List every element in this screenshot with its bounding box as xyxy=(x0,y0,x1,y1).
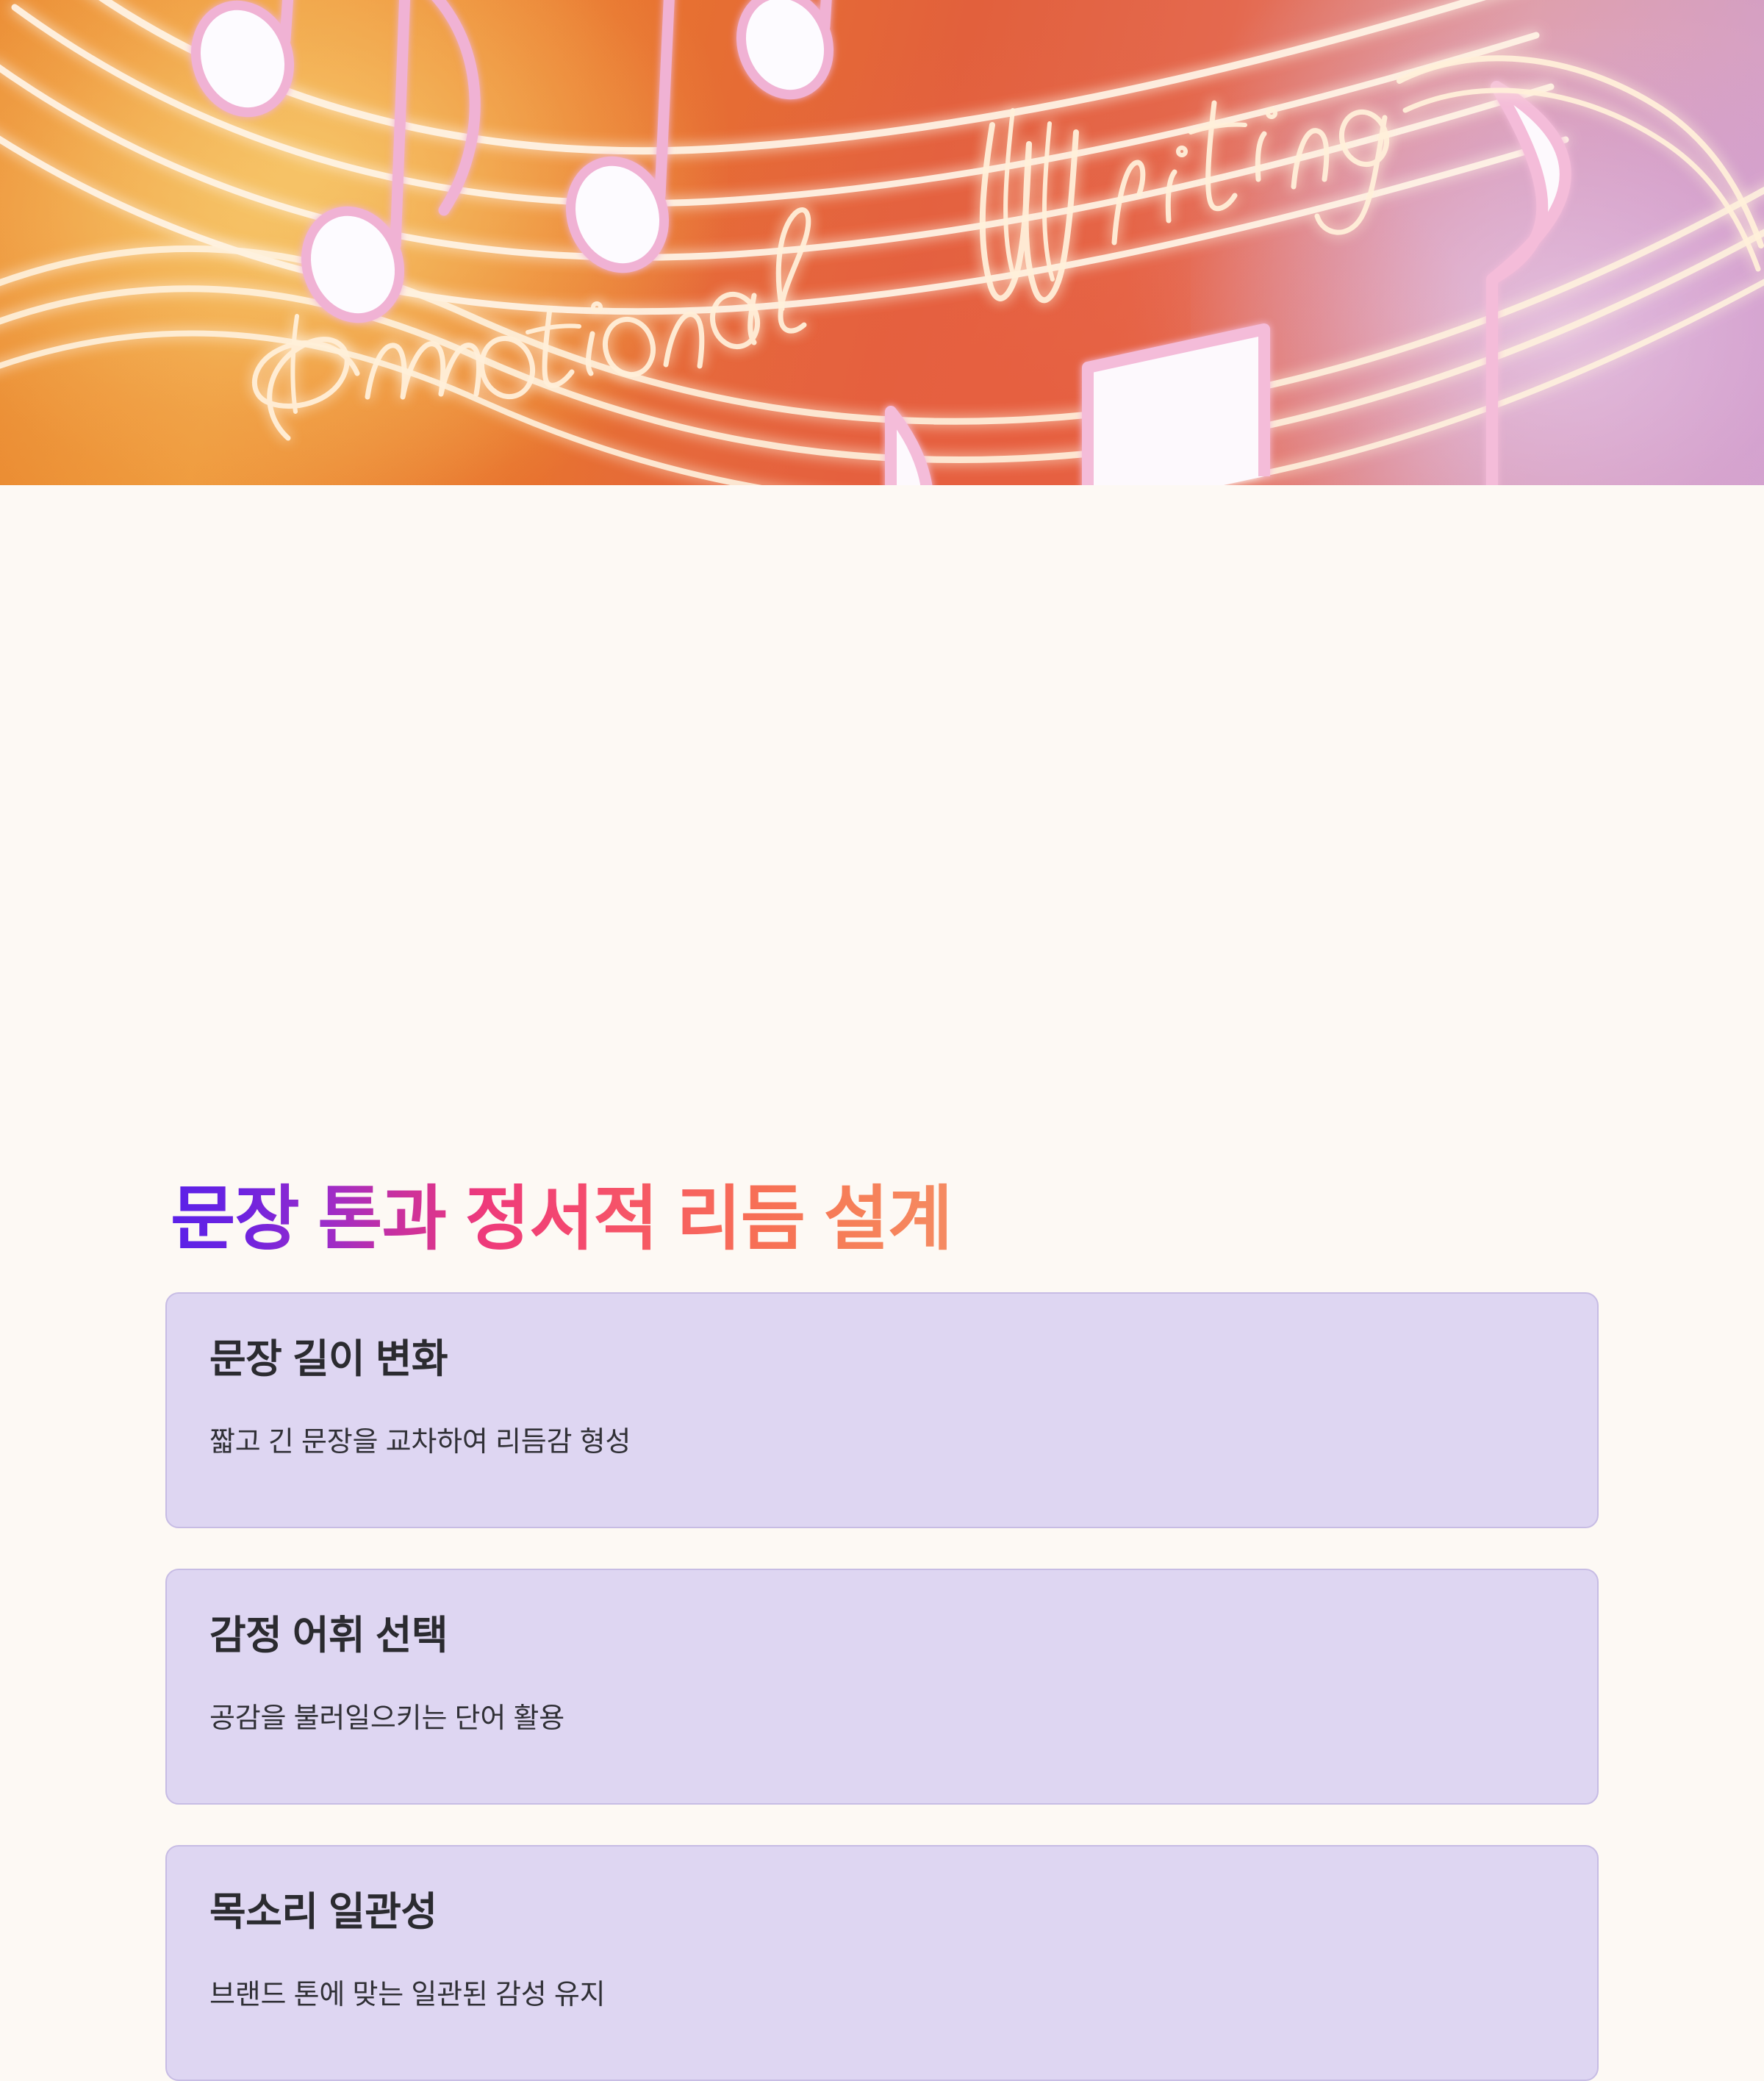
card-title: 목소리 일관성 xyxy=(209,1886,1555,1938)
page-root: 문장 톤과 정서적 리듬 설계 문장 길이 변화 짧고 긴 문장을 교차하여 리… xyxy=(0,0,1764,1764)
card-title: 문장 길이 변화 xyxy=(209,1333,1555,1385)
staff-lines-lower-icon xyxy=(0,182,1764,485)
music-note-icon xyxy=(556,0,678,282)
card-title: 감정 어휘 선택 xyxy=(209,1610,1555,1661)
list-item[interactable]: 문장 길이 변화 짧고 긴 문장을 교차하여 리듬감 형성 xyxy=(165,1292,1599,1528)
hero-banner xyxy=(0,0,1764,485)
card-list: 문장 길이 변화 짧고 긴 문장을 교차하여 리듬감 형성 감정 어휘 선택 공… xyxy=(165,1292,1599,2081)
music-note-icon xyxy=(291,0,475,332)
music-note-icon xyxy=(1492,87,1566,485)
list-item[interactable]: 목소리 일관성 브랜드 톤에 맞는 일관된 감성 유지 xyxy=(165,1845,1599,2081)
page-title: 문장 톤과 정서적 리듬 설계 xyxy=(171,1176,952,1262)
card-description: 짧고 긴 문장을 교차하여 리듬감 형성 xyxy=(209,1423,1555,1462)
music-note-icon xyxy=(1088,329,1264,485)
music-note-icon xyxy=(728,0,843,107)
card-description: 브랜드 톤에 맞는 일관된 감성 유지 xyxy=(209,1976,1555,2015)
music-note-icon xyxy=(181,0,304,126)
list-item[interactable]: 감정 어휘 선택 공감을 불러일으키는 단어 활용 xyxy=(165,1569,1599,1805)
card-description: 공감을 불러일으키는 단어 활용 xyxy=(209,1699,1555,1738)
hero-decoration-svg xyxy=(0,0,1764,485)
